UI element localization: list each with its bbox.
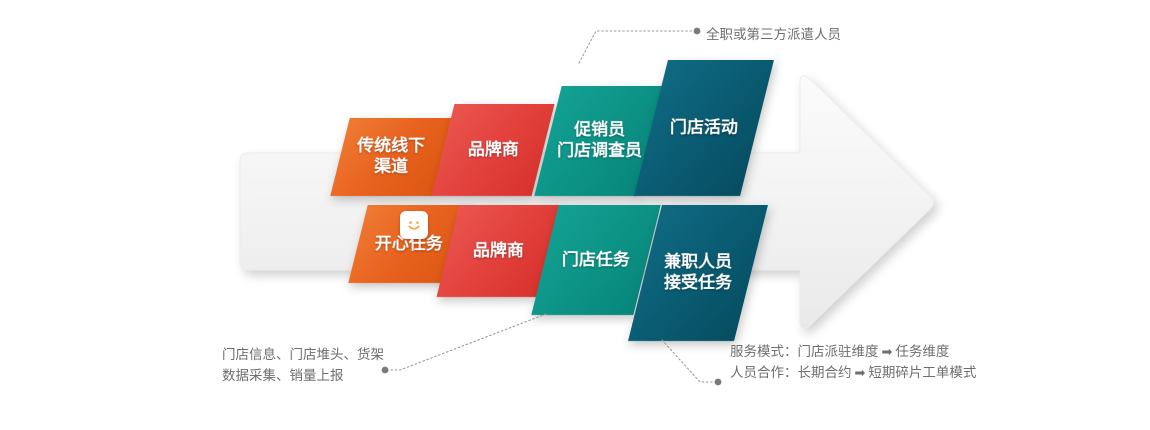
annotation-service-model-line: 服务模式：门店派驻维度➡任务维度	[730, 342, 976, 363]
annotation-data-collection-line1: 门店信息、门店堆头、货架	[222, 345, 384, 366]
step-label: 传统线下 渠道	[357, 136, 425, 177]
step-label: 促销员 门店调查员	[557, 120, 642, 161]
right-arrow-icon: ➡	[852, 366, 869, 381]
annotation-staff-cooperation-line: 人员合作：长期合约➡短期碎片工单模式	[730, 363, 976, 384]
step-label: 兼职人员 接受任务	[664, 252, 732, 293]
annotation-staffing: 全职或第三方派遣人员	[706, 25, 841, 46]
service-model-suffix: 任务维度	[895, 344, 949, 360]
staff-cooperation-suffix: 短期碎片工单模式	[868, 365, 976, 381]
staff-cooperation-prefix: 人员合作：长期合约	[730, 365, 852, 381]
annotation-data-collection: 门店信息、门店堆头、货架 数据采集、销量上报	[222, 345, 384, 387]
annotation-model-shift: 服务模式：门店派驻维度➡任务维度 人员合作：长期合约➡短期碎片工单模式	[730, 342, 976, 384]
step-label: 品牌商	[473, 241, 524, 262]
diagram-canvas: 传统线下 渠道 品牌商 促销员 门店调查员 门店活动 开心任务 品牌商 门店任务…	[0, 0, 1150, 430]
right-arrow-icon: ➡	[879, 345, 896, 360]
step-label: 品牌商	[468, 140, 519, 161]
service-model-prefix: 服务模式：门店派驻维度	[730, 344, 879, 360]
step-label: 门店任务	[562, 250, 630, 271]
annotation-data-collection-line2: 数据采集、销量上报	[222, 366, 384, 387]
smiley-face-icon	[400, 211, 428, 239]
annotation-staffing-text: 全职或第三方派遣人员	[706, 27, 841, 43]
step-label: 门店活动	[670, 118, 738, 139]
